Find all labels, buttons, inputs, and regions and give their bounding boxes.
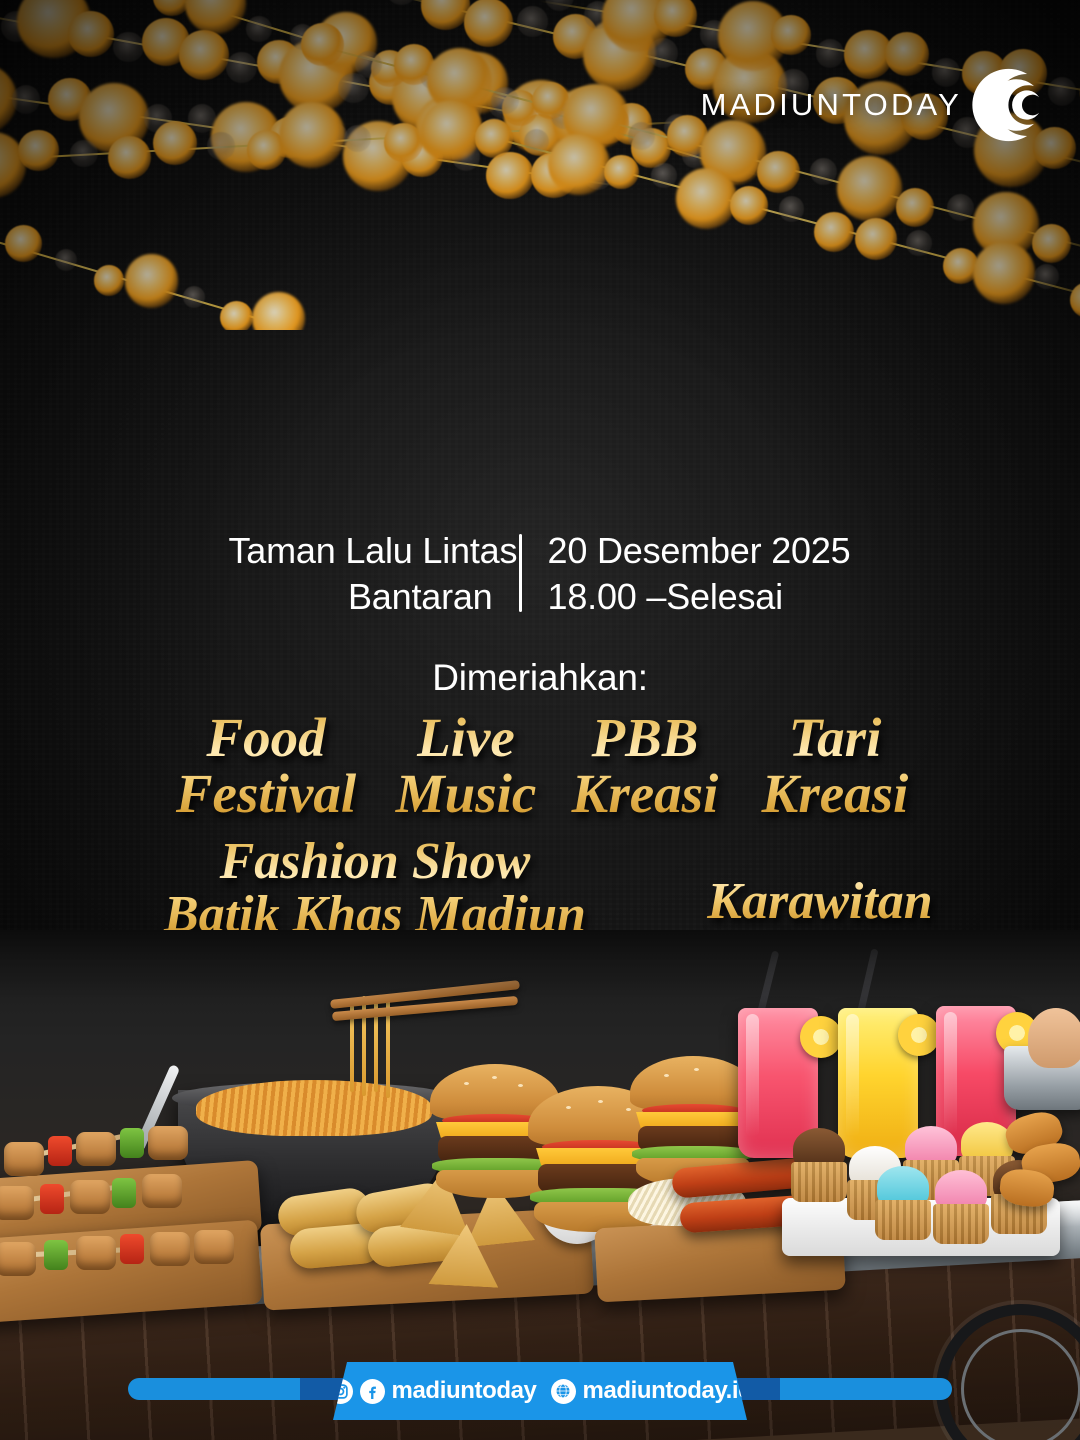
satay-meat [150,1232,190,1266]
satay-meat [76,1132,116,1166]
datetime-block: 20 Desember 2025 18.00 –Selesai [522,528,852,620]
footer-social-banner: madiuntoday madiuntoday.id [333,1362,747,1420]
satay-green-pepper [44,1240,68,1270]
cupcake-wrapper [933,1204,989,1244]
lineup-item-fashion-show: Fashion Show Batik Khas Madiun [95,835,655,941]
poster-title: Bantaran Night Culinary Festival [0,168,1080,473]
cupcake-chocolate [788,1128,850,1202]
brand-logo-text: MADIUNTODAY [701,87,962,123]
event-date: 20 Desember 2025 [548,528,852,574]
social-handle-text: madiuntoday [392,1377,537,1405]
hand [1028,1008,1080,1068]
footer-bar: madiuntoday madiuntoday.id [0,1354,1080,1440]
title-line-2: Night Culinary [0,268,1080,374]
lineup-item-line-1: Fashion Show [95,835,655,888]
lineup-item-line-2: Music [382,766,550,822]
lineup-item-food-festival: Food Festival [150,710,382,822]
satay-meat [194,1230,234,1264]
sesame-seed [598,1100,603,1103]
satay-meat [148,1126,188,1160]
cupcake-wrapper [875,1200,931,1240]
noodles [196,1080,432,1136]
satay-meat [142,1174,182,1208]
social-handle-group[interactable]: madiuntoday [328,1377,537,1405]
lineup-item-line-1: PBB [550,710,740,766]
satay-red-pepper [120,1234,144,1264]
sesame-seed [626,1108,631,1111]
event-info: Taman Lalu Lintas Bantaran 20 Desember 2… [0,528,1080,620]
sesame-seed [664,1074,669,1077]
lineup-item-line-2: Festival [150,766,382,822]
lineup-item-line-2: Kreasi [740,766,930,822]
satay-meat [0,1242,36,1276]
venue-block: Taman Lalu Lintas Bantaran [229,528,519,620]
footer-accent-left-light [128,1378,314,1400]
lineup-row-2: Fashion Show Batik Khas Madiun Karawitan [0,835,1080,941]
satay-red-pepper [48,1136,72,1166]
lineup-item-tari-kreasi: Tari Kreasi [740,710,930,822]
satay-green-pepper [112,1178,136,1208]
lineup-heading: Dimeriahkan: [0,657,1080,699]
sesame-seed [518,1084,523,1087]
event-time: 18.00 –Selesai [548,574,852,620]
lemon-slice [800,1016,842,1058]
brand-logo: MADIUNTODAY [701,62,1046,148]
satay-red-pepper [40,1184,64,1214]
lineup-item-line-2: Kreasi [550,766,740,822]
lineup-item-live-music: Live Music [382,710,550,822]
lineup-item-karawitan: Karawitan [655,849,985,928]
website-text: madiuntoday.id [583,1377,753,1405]
venue-line-1: Taman Lalu Lintas [229,528,493,574]
title-line-1: Bantaran [0,168,1080,274]
lemon-slice [898,1014,940,1056]
website-group[interactable]: madiuntoday.id [551,1377,753,1405]
globe-icon[interactable] [551,1379,576,1404]
lineup-item-pbb-kreasi: PBB Kreasi [550,710,740,822]
crescent-swirl-icon [960,62,1046,148]
satay-meat [70,1180,110,1214]
poster-root: MADIUNTODAY Bantaran Night Culinary Fest… [0,0,1080,1440]
footer-accent-right-light [766,1378,952,1400]
lineup-row-1: Food Festival Live Music PBB Kreasi Tari… [0,710,1080,822]
sesame-seed [566,1106,571,1109]
satay-meat [76,1236,116,1270]
cupcake-wrapper [791,1162,847,1202]
lineup-item-line-1: Karawitan [655,875,985,928]
satay-meat [4,1142,44,1176]
lineup-item-line-1: Live [382,710,550,766]
cupcake-pink-2 [930,1170,992,1244]
satay-green-pepper [120,1128,144,1158]
lineup-item-line-1: Food [150,710,382,766]
sesame-seed [464,1082,469,1085]
sesame-seed [694,1068,699,1071]
title-line-3: Festival [0,368,1080,474]
sesame-seed [492,1076,497,1079]
satay-meat [0,1186,34,1220]
lineup-item-line-1: Tari [740,710,930,766]
cupcake-blue [872,1166,934,1240]
venue-line-2: Bantaran [229,574,493,620]
facebook-icon[interactable] [360,1379,385,1404]
